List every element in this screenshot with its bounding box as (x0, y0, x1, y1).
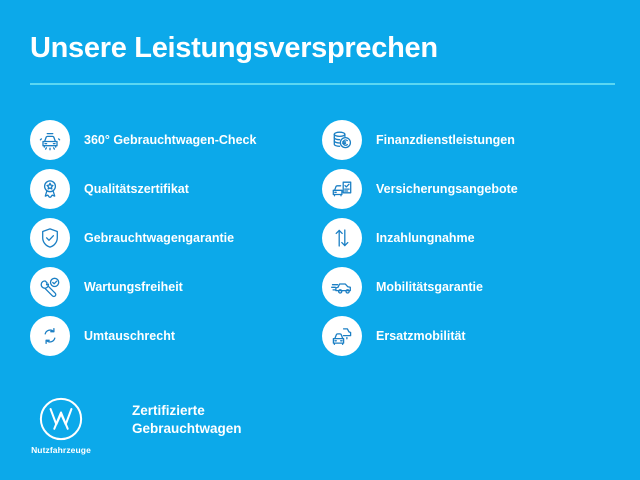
benefits-right-column: Finanzdienstleistungen Versicherungsange… (322, 120, 614, 356)
benefit-item: Gebrauchtwagengarantie (30, 218, 322, 258)
benefit-item: Mobilitätsgarantie (322, 267, 614, 307)
coins-euro-icon (322, 120, 362, 160)
benefits-grid: 360° Gebrauchtwagen-Check Qualitätszerti… (30, 120, 615, 356)
volkswagen-logo (38, 396, 84, 442)
benefit-label: Versicherungsangebote (376, 181, 518, 197)
benefit-label: 360° Gebrauchtwagen-Check (84, 132, 256, 148)
benefit-item: Ersatzmobilität (322, 316, 614, 356)
brand-lockup: Nutzfahrzeuge Zertifizierte Gebrauchtwag… (30, 396, 242, 455)
car-document-check-icon (322, 169, 362, 209)
brand-claim-line-2: Gebrauchtwagen (132, 420, 242, 438)
benefit-label: Qualitätszertifikat (84, 181, 189, 197)
page-title: Unsere Leistungsversprechen (30, 30, 615, 66)
benefit-label: Mobilitätsgarantie (376, 279, 483, 295)
brand-claim: Zertifizierte Gebrauchtwagen (132, 402, 242, 438)
benefit-item: Wartungsfreiheit (30, 267, 322, 307)
car-speed-icon (322, 267, 362, 307)
benefit-item: 360° Gebrauchtwagen-Check (30, 120, 322, 160)
two-cars-icon (322, 316, 362, 356)
brand-subtitle: Nutzfahrzeuge (31, 445, 91, 455)
benefit-label: Wartungsfreiheit (84, 279, 183, 295)
car-front-check-icon (30, 120, 70, 160)
benefit-item: Versicherungsangebote (322, 169, 614, 209)
benefits-left-column: 360° Gebrauchtwagen-Check Qualitätszerti… (30, 120, 322, 356)
wrench-check-icon (30, 267, 70, 307)
benefit-label: Gebrauchtwagengarantie (84, 230, 234, 246)
shield-check-icon (30, 218, 70, 258)
benefit-label: Ersatzmobilität (376, 328, 466, 344)
benefit-item: Umtauschrecht (30, 316, 322, 356)
award-rosette-icon (30, 169, 70, 209)
exchange-arrows-icon (30, 316, 70, 356)
arrows-up-down-icon (322, 218, 362, 258)
header: Unsere Leistungsversprechen (30, 30, 615, 85)
brand-mark: Nutzfahrzeuge (30, 396, 92, 455)
benefit-label: Inzahlungnahme (376, 230, 475, 246)
benefit-label: Umtauschrecht (84, 328, 175, 344)
slide-root: Unsere Leistungsversprechen (0, 0, 640, 480)
benefit-item: Inzahlungnahme (322, 218, 614, 258)
title-divider (30, 83, 615, 85)
benefit-label: Finanzdienstleistungen (376, 132, 515, 148)
benefit-item: Qualitätszertifikat (30, 169, 322, 209)
benefit-item: Finanzdienstleistungen (322, 120, 614, 160)
brand-claim-line-1: Zertifizierte (132, 402, 242, 420)
